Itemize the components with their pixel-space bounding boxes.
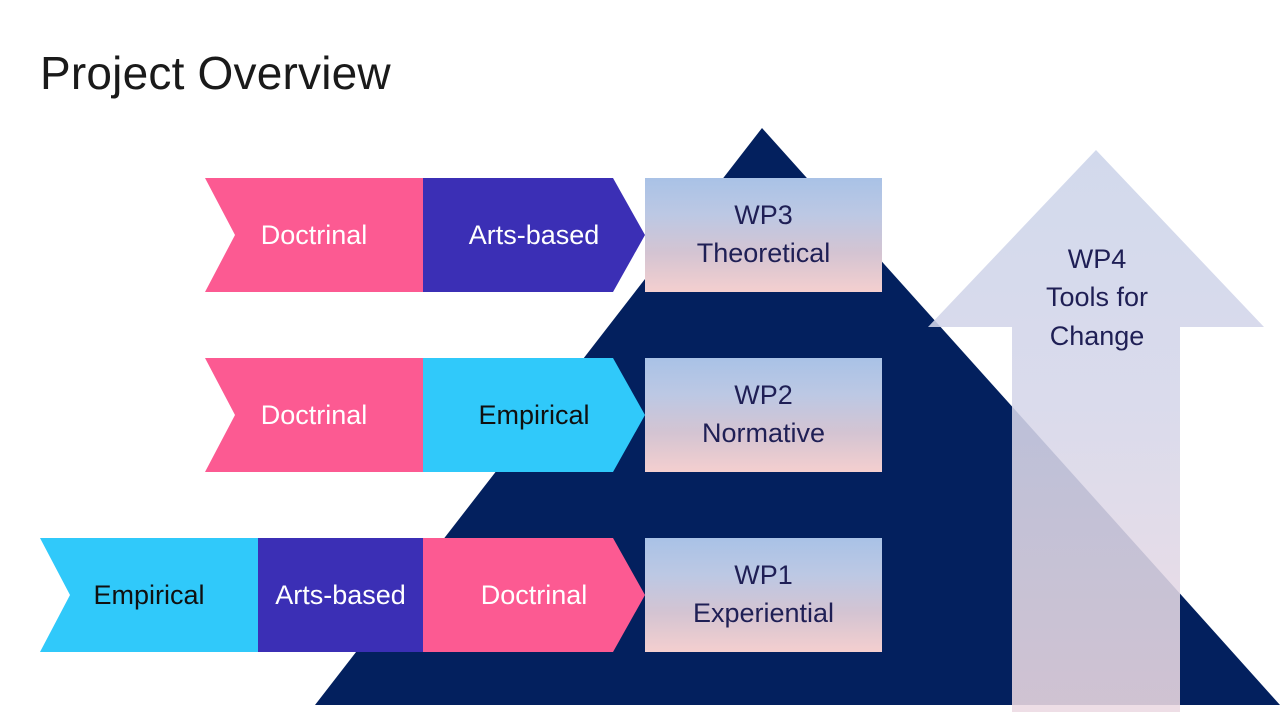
wp4-arrow-shape[interactable] (0, 0, 1280, 720)
wp4-code: WP4 (1012, 240, 1182, 278)
wp4-label: WP4 Tools for Change (1012, 240, 1182, 355)
wp4-line2: Change (1012, 317, 1182, 355)
wp4-line1: Tools for (1012, 278, 1182, 316)
slide-canvas: Project Overview Doctrinal Arts-based Do… (0, 0, 1280, 720)
wp4-arrow-polygon[interactable] (928, 150, 1264, 712)
